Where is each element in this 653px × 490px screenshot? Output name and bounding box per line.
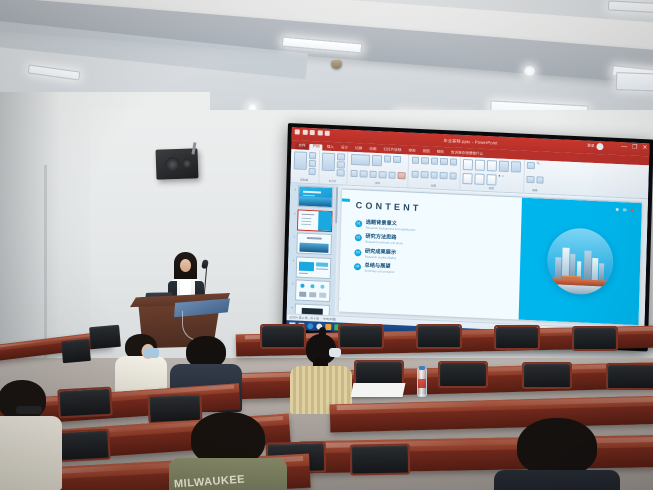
line-spacing-icon[interactable] [449,158,457,165]
slide-thumbnail-5[interactable] [295,280,331,303]
thumbnail-row[interactable]: 5 [290,280,334,303]
slide-title: CONTENT [356,201,522,218]
thumb-art [316,262,328,267]
window-controls[interactable]: — ❐ ✕ [621,144,648,151]
quick-styles-icon[interactable] [511,161,521,172]
shadow-icon[interactable] [378,171,386,178]
chair [418,326,460,348]
chair-frame [494,325,540,350]
account-area[interactable]: 登录 [587,143,603,151]
thumbnail-row[interactable]: 1 [293,185,337,208]
toc-label-en: Summary and prospect [364,270,394,275]
slide-thumbnail-pane[interactable]: 1 2 [287,183,339,315]
grow-font-icon[interactable] [383,155,391,162]
thumb-art [299,292,306,297]
person-hair [517,418,597,476]
shape-oval-icon[interactable] [462,173,472,184]
arrange-icon[interactable] [499,160,509,171]
ribbon-group-font[interactable]: 字体 [347,152,409,188]
align-left-icon[interactable] [411,171,419,178]
toc-number-badge: 01 [355,220,362,227]
eyeglasses [16,406,42,414]
new-slide-icon[interactable] [322,152,335,171]
toc-number-badge: 04 [354,263,361,270]
account-label: 登录 [587,144,594,149]
thumb-art [309,292,316,297]
chair [608,365,653,389]
section-icon[interactable] [337,169,345,176]
toc-number-badge: 03 [354,249,361,256]
paper-sheet [351,383,406,397]
thumb-art [320,216,329,225]
bullets-icon[interactable] [411,156,419,163]
powerpoint-window: 毕业答辩.pptx - PowerPoint 登录 — ❐ ✕ 文件 开始 [286,127,649,345]
chair-frame [350,443,411,475]
shape-outline-label[interactable]: □ [502,175,504,178]
select-icon[interactable] [536,177,544,184]
shrink-font-icon[interactable] [393,155,401,162]
audience-person-right-foreground [492,418,622,490]
face-mask [144,348,159,358]
audience-person-glasses-left [0,380,62,490]
ribbon-group-clipboard[interactable]: 剪贴板 [290,149,319,183]
screen-display: 毕业答辩.pptx - PowerPoint 登录 — ❐ ✕ 文件 开始 [286,127,649,345]
shape-triangle-icon[interactable] [474,174,484,185]
thumbnail-number: 1 [293,185,296,191]
toc-number-badge: 02 [355,235,362,242]
layout-icon[interactable] [337,153,345,160]
water-bottle [417,368,427,397]
close-button[interactable]: ✕ [642,145,647,151]
linear-led-tube [608,0,653,13]
thumbnail-number: 6 [290,303,293,309]
cut-icon[interactable] [309,151,317,158]
presenter-face [180,259,191,272]
slide-thumbnail-4[interactable] [295,256,331,279]
person-torso [494,470,620,490]
chair [524,364,570,388]
slide-thumbnail-2[interactable] [297,209,333,232]
shape-rectangle-icon[interactable] [463,158,473,169]
photo-building [555,258,562,281]
paste-icon[interactable] [293,151,306,170]
chair-frame [57,387,112,419]
increase-indent-icon[interactable] [440,157,448,164]
city-skyline-photo [546,227,614,296]
slide-thumbnail-6[interactable] [294,303,330,315]
slide-thumbnail-1[interactable] [297,185,333,208]
thumb-art [298,196,331,207]
shape-line-icon[interactable] [475,159,485,170]
replace-icon[interactable] [526,176,534,183]
current-slide[interactable]: CONTENT 01 选题背景意义 Research background an… [339,190,642,326]
thumbnail-number: 4 [291,256,294,262]
dot-2 [623,208,626,212]
audience-person-milwaukee: MILWAUKEE [168,412,288,490]
chair-frame [438,361,488,388]
linear-led-tube [28,64,81,80]
restore-button[interactable]: ❐ [632,144,638,150]
thumb-art [299,243,328,253]
justify-icon[interactable] [439,172,447,179]
minimize-button[interactable]: — [621,144,627,150]
bottle-cap [419,366,425,370]
thumbnail-number: 2 [292,209,295,215]
recessed-panel-light [616,72,653,92]
downlight [524,66,535,76]
powerpoint-body: 1 2 [287,183,648,329]
slide-editing-stage[interactable]: CONTENT 01 选题背景意义 Research background an… [335,185,648,329]
font-family-select[interactable] [350,153,369,165]
columns-icon[interactable] [449,173,457,180]
format-painter-icon[interactable] [308,167,316,174]
find-label: 🔍 [536,162,539,166]
face-mask [329,348,341,357]
font-color-icon[interactable] [397,172,405,179]
reset-icon[interactable] [337,161,345,168]
ribbon-group-slides[interactable]: 幻灯片 [319,150,348,184]
find-icon[interactable] [527,161,535,168]
underline-icon[interactable] [369,171,377,178]
chair [352,446,408,475]
toc-label-en: Research background and significance [366,227,416,232]
ribbon-group-editing[interactable]: 🔍 编辑 [524,160,547,194]
dot-1 [615,208,618,212]
ribbon-group-drawing[interactable]: ■ □ 绘图 [460,157,525,193]
decrease-indent-icon[interactable] [430,157,438,164]
chair [574,328,616,350]
slide-content-left: CONTENT 01 选题背景意义 Research background an… [339,190,522,320]
audience-person-ponytail [286,334,356,414]
copy-icon[interactable] [308,159,316,166]
decorative-bar-top [339,198,350,202]
toc-label-en: Research results display [365,255,397,260]
chair [59,389,110,418]
ribbon-group-paragraph[interactable]: 段落 [408,155,460,190]
thumbnail-number: 5 [290,280,293,286]
shape-fill-label[interactable]: ■ [499,175,501,178]
person-hair [0,380,46,420]
table-of-contents: 01 选题背景意义 Research background and signif… [354,220,521,280]
toc-label-en: Research methods and ideas [365,241,403,246]
dot-3 [630,209,633,213]
thumbnail-row[interactable]: 4 [291,256,335,279]
folder-icon[interactable] [325,323,331,329]
thumbnail-number: 3 [292,232,295,238]
language-indicator[interactable]: 中文(中国) [323,317,336,322]
strikethrough-icon[interactable] [388,172,396,179]
person-ponytail [319,327,326,339]
chair-frame [606,363,653,390]
smoke-detector [331,60,342,69]
photo-building [584,251,591,282]
avatar[interactable] [596,143,603,150]
italic-icon[interactable] [360,170,368,177]
browser-icon[interactable] [307,323,313,329]
thumbnail-row[interactable]: 3 [291,232,335,255]
thumbnail-row[interactable]: 6 [289,303,333,315]
lecture-hall-scene: 毕业答辩.pptx - PowerPoint 登录 — ❐ ✕ 文件 开始 [0,0,653,490]
chair-frame [572,326,618,351]
numbering-icon[interactable] [421,157,429,164]
photo-building [592,258,599,282]
chair [496,327,538,349]
slide-thumbnail-3[interactable] [296,233,332,256]
bottle-label [418,379,426,388]
chair [440,363,486,387]
bold-icon[interactable] [350,170,358,177]
shape-arrow-icon[interactable] [487,160,497,171]
projection-screen: 毕业答辩.pptx - PowerPoint 登录 — ❐ ✕ 文件 开始 [282,123,653,352]
corner-dots [615,208,633,212]
person-torso [0,416,62,490]
wall-speaker [155,148,198,179]
shape-star-icon[interactable] [486,174,496,185]
chair-frame [522,362,572,389]
thumb-art [319,293,326,298]
font-size-select[interactable] [371,154,381,165]
toc-item: 04 总结与展望 Summary and prospect [354,263,520,280]
speaker-cone-icon [182,158,192,168]
speaker-cone-icon [165,157,181,173]
decorative-bar-bottom [339,297,341,301]
speaker-bracket [191,142,196,154]
align-right-icon[interactable] [430,172,438,179]
slide-content-right [519,198,642,325]
thumb-art [298,261,313,271]
align-center-icon[interactable] [421,171,429,178]
thumbnail-row[interactable]: 2 [292,209,336,232]
chair-frame [416,324,462,349]
chair [61,339,91,363]
